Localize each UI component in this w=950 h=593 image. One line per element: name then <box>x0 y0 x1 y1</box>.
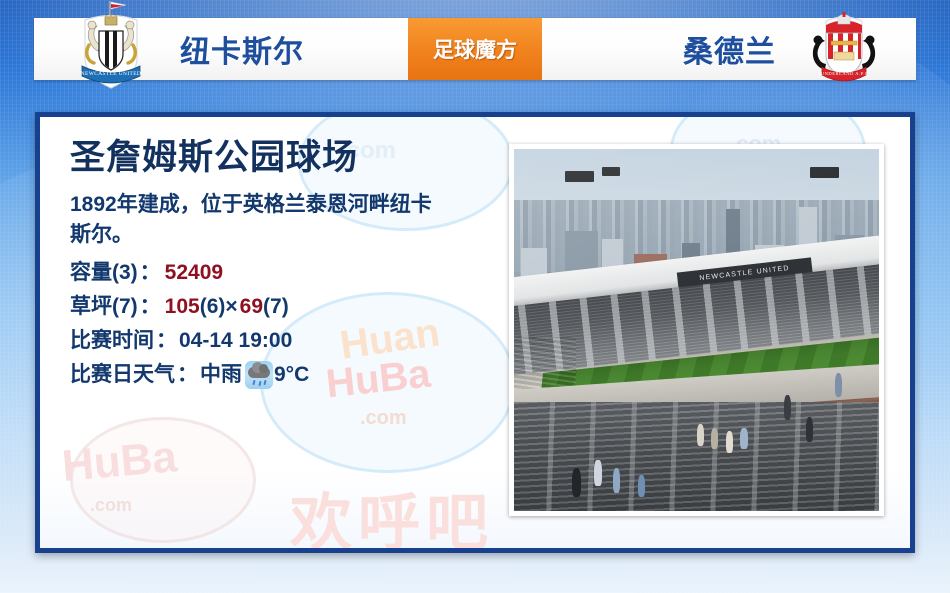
home-team-name: 纽卡斯尔 <box>180 27 304 71</box>
photo-floodlight-2 <box>602 167 620 176</box>
pitch-width: 69 <box>240 290 263 324</box>
photo-spectator <box>711 428 718 450</box>
newcastle-united-crest-icon: NEWCASTLE UNITED <box>68 0 154 92</box>
capacity-separator: ： <box>140 256 161 290</box>
away-team-section[interactable]: 桑德兰 <box>542 18 916 80</box>
capacity-value: 52409 <box>165 256 223 290</box>
capacity-label: 容量(3) <box>70 256 138 290</box>
photo-floodlight-3 <box>810 167 839 178</box>
photo-spectator <box>835 373 842 397</box>
weather-separator: ： <box>177 358 198 392</box>
stadium-description: 1892年建成，位于英格兰泰恩河畔纽卡斯尔。 <box>70 190 440 251</box>
photo-spectator <box>594 460 601 485</box>
weather-row: 比赛日天气 ： 中雨 9°C <box>70 358 490 392</box>
match-time-value: 04-14 19:00 <box>179 324 292 358</box>
stadium-info-card: NEWCASTLE UNITED <box>0 0 950 593</box>
rain-cloud-icon <box>245 361 273 389</box>
match-header-bar: NEWCASTLE UNITED <box>34 18 916 80</box>
photo-floodlight-1 <box>565 171 594 182</box>
photo-spectator <box>726 431 733 453</box>
photo-spectator <box>572 468 581 497</box>
match-time-row: 比赛时间 ： 04-14 19:00 <box>70 324 490 358</box>
photo-spectator <box>740 428 747 450</box>
capacity-row: 容量(3) ： 52409 <box>70 256 490 290</box>
stadium-photo: NEWCASTLE UNITED <box>514 149 879 511</box>
site-logo-button[interactable]: 足球魔方 <box>408 18 542 80</box>
photo-spectator <box>806 417 813 442</box>
pitch-times-symbol: × <box>225 290 237 324</box>
photo-spectator <box>784 395 791 420</box>
site-logo-text: 足球魔方 <box>433 34 517 64</box>
stadium-photo-frame[interactable]: NEWCASTLE UNITED <box>509 144 884 516</box>
stadium-title: 圣詹姆斯公园球场 <box>70 139 490 178</box>
photo-spectator <box>697 424 704 446</box>
weather-label: 比赛日天气 <box>70 358 175 392</box>
weather-temperature: 9°C <box>274 358 309 392</box>
pitch-width-rank: (7) <box>263 290 289 324</box>
home-team-section[interactable]: NEWCASTLE UNITED <box>34 18 408 80</box>
sunderland-afc-crest-icon: SUNDERLAND A.F.C. <box>798 11 890 87</box>
photo-spectator <box>638 475 645 497</box>
svg-text:NEWCASTLE UNITED: NEWCASTLE UNITED <box>81 71 141 77</box>
photo-lower-tier <box>514 402 879 511</box>
svg-text:SUNDERLAND A.F.C.: SUNDERLAND A.F.C. <box>818 71 871 76</box>
stadium-info-panel: .com Huan HuBa .com 欢呼吧 HuBa .com .com 圣… <box>35 112 915 553</box>
match-time-separator: ： <box>156 324 177 358</box>
photo-lower-tier-stairs <box>514 402 879 511</box>
photo-spectator <box>613 468 620 493</box>
pitch-row: 草坪(7) ： 105 (6) × 69 (7) <box>70 290 490 324</box>
pitch-length: 105 <box>165 290 200 324</box>
pitch-separator: ： <box>140 290 161 324</box>
match-time-label: 比赛时间 <box>70 324 154 358</box>
pitch-label: 草坪(7) <box>70 290 138 324</box>
weather-condition: 中雨 <box>200 358 242 392</box>
stadium-info-column: 圣詹姆斯公园球场 1892年建成，位于英格兰泰恩河畔纽卡斯尔。 容量(3) ： … <box>70 139 490 392</box>
away-team-name: 桑德兰 <box>683 27 776 71</box>
pitch-length-rank: (6) <box>200 290 226 324</box>
